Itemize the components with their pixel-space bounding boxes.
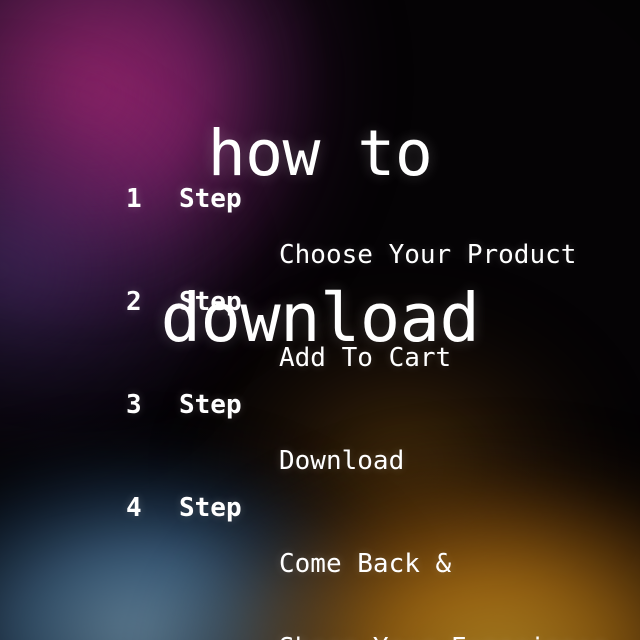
poster-content: how to download 1 Step Choose Your Produ…: [0, 0, 640, 640]
step-number: 2: [126, 288, 142, 316]
steps-list: 1 Step Choose Your Product 2 Step Add To…: [0, 185, 640, 597]
step-description: Come Back & Share Your Experience: [279, 494, 608, 640]
step-label: Step: [179, 494, 242, 522]
step-item-3: 3 Step Download: [0, 391, 640, 494]
step-label: Step: [179, 288, 242, 316]
step-item-4: 4 Step Come Back & Share Your Experience: [0, 494, 640, 597]
step-item-2: 2 Step Add To Cart: [0, 288, 640, 391]
step-description-line: Choose Your Product: [279, 241, 576, 269]
step-number: 3: [126, 391, 142, 419]
step-item-1: 1 Step Choose Your Product: [0, 185, 640, 288]
page-title-line-1: how to: [0, 126, 640, 181]
step-description-line: Come Back &: [279, 550, 608, 578]
step-description-line: Add To Cart: [279, 344, 451, 372]
step-number: 4: [126, 494, 142, 522]
step-label: Step: [179, 391, 242, 419]
how-to-download-poster: how to download 1 Step Choose Your Produ…: [0, 0, 640, 640]
step-description-line: Share Your Experience: [279, 634, 608, 640]
step-description-line: Download: [279, 447, 436, 475]
step-label: Step: [179, 185, 242, 213]
step-number: 1: [126, 185, 142, 213]
